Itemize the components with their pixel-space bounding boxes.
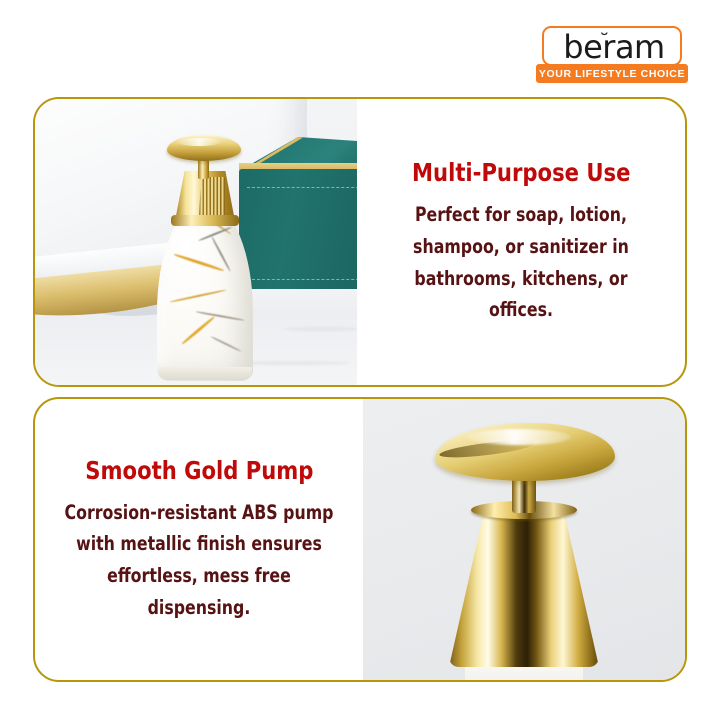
- feature-text-multi-purpose-use: Multi-Purpose Use Perfect for soap, loti…: [357, 99, 685, 385]
- pump-head-highlight: [177, 138, 221, 146]
- marble-vein: [283, 327, 357, 331]
- logo-wordmark: beram: [544, 28, 684, 65]
- pump-head-highlight: [467, 429, 571, 445]
- gold-marble-vein: [181, 316, 215, 345]
- logo-wordmark-box: beram ˘: [542, 26, 682, 66]
- pump-collar-lip: [171, 215, 239, 226]
- logo-tagline: YOUR LIFESTYLE CHOICE: [536, 64, 688, 83]
- feature-card-multi-purpose-use: Multi-Purpose Use Perfect for soap, loti…: [33, 97, 687, 387]
- gold-marble-vein: [169, 289, 226, 303]
- feature-card-smooth-gold-pump: Smooth Gold Pump Corrosion-resistant ABS…: [33, 397, 687, 682]
- logo-breve-accent: ˘: [599, 33, 610, 50]
- feature-heading: Multi-Purpose Use: [412, 158, 630, 187]
- feature-text-smooth-gold-pump: Smooth Gold Pump Corrosion-resistant ABS…: [35, 399, 363, 680]
- gold-pump-assembly: [409, 413, 639, 675]
- feature-description: Corrosion-resistant ABS pump with metall…: [64, 497, 334, 623]
- product-photo-pump-closeup: [363, 399, 685, 680]
- teal-box-stitching: [247, 279, 357, 280]
- grey-marble-vein: [198, 226, 232, 241]
- grey-marble-vein: [195, 311, 245, 322]
- product-feature-graphic: beram ˘ YOUR LIFESTYLE CHOICE: [0, 0, 720, 720]
- teal-box-stitching: [247, 187, 357, 188]
- grey-marble-vein: [210, 336, 241, 353]
- scene-background: [35, 99, 357, 385]
- scene-background: [363, 399, 685, 680]
- bottle-base: [158, 367, 252, 380]
- feature-description: Perfect for soap, lotion, shampoo, or sa…: [386, 199, 656, 325]
- gold-marble-vein: [174, 253, 224, 271]
- product-photo-bathroom-scene: [35, 99, 357, 385]
- pump-cone-collar: [449, 507, 599, 667]
- feature-heading: Smooth Gold Pump: [85, 456, 313, 485]
- pump-collar-ribbing: [199, 177, 225, 217]
- brand-logo: beram ˘ YOUR LIFESTYLE CHOICE: [536, 26, 688, 88]
- bottle-ceramic-body: [157, 203, 253, 381]
- soap-dispenser-bottle: [143, 129, 263, 381]
